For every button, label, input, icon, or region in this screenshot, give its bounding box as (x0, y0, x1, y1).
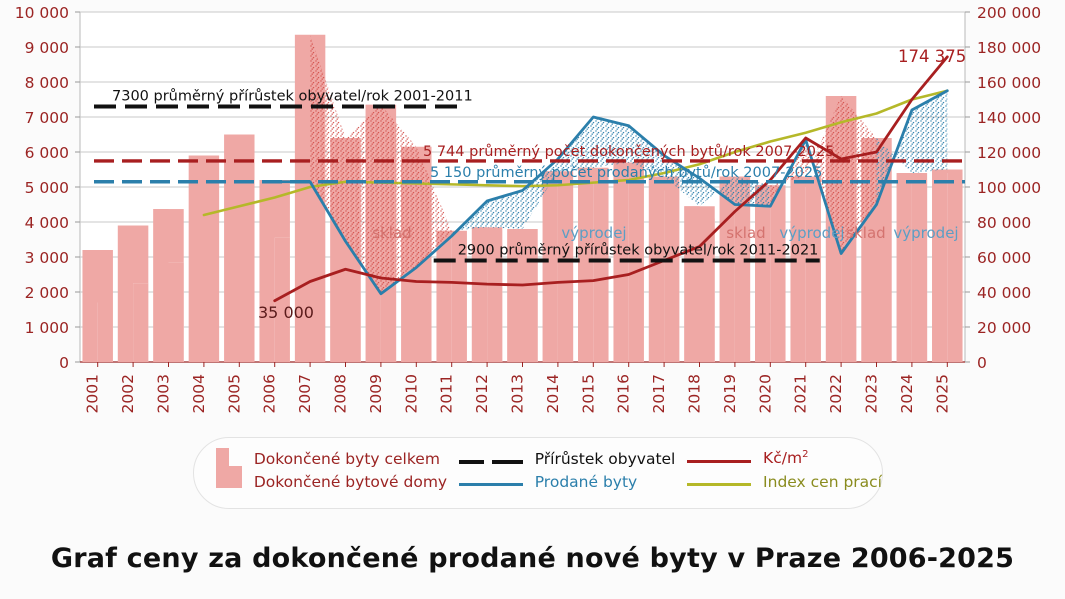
x-axis-label-2004: 2004 (190, 374, 208, 413)
x-axis-label-2022: 2022 (827, 374, 845, 413)
annotation-price-start: 35 000 (258, 303, 314, 322)
x-axis-label-2001: 2001 (84, 374, 102, 413)
bar-buildings (664, 191, 679, 363)
legend-bar-swatch (216, 447, 242, 493)
x-axis-label-2002: 2002 (119, 374, 137, 413)
bar-buildings (169, 262, 184, 362)
x-axis-label-2020: 2020 (756, 374, 774, 413)
bar-total (755, 185, 770, 362)
x-axis-label-2019: 2019 (721, 374, 739, 413)
y-axis-left-tick: 3 000 (25, 249, 69, 267)
legend-label-population: Přírůstek obyvatel (535, 447, 676, 470)
x-axis-label-2010: 2010 (402, 374, 420, 413)
x-axis-label-2015: 2015 (579, 374, 597, 413)
y-axis-left-tick: 9 000 (25, 39, 69, 57)
chart-canvas: 001 00020 0002 00040 0003 00060 0004 000… (0, 0, 1065, 430)
bar-buildings (98, 303, 113, 363)
bar-total (932, 170, 947, 363)
x-axis-label-2013: 2013 (509, 374, 527, 413)
y-axis-right-tick: 140 000 (977, 109, 1041, 127)
y-axis-left-tick: 8 000 (25, 74, 69, 92)
y-axis-left-tick: 10 000 (15, 4, 69, 22)
x-axis-label-2006: 2006 (261, 374, 279, 413)
region-label-vyprodej: výprodej (779, 224, 844, 242)
legend-label-index: Index cen prací (763, 470, 882, 493)
bar-buildings (806, 187, 821, 362)
region-label-sklad: sklad (846, 224, 885, 242)
bar-total (224, 135, 254, 363)
bar-buildings (947, 173, 962, 362)
region-label-vyprodej: výprodej (561, 224, 626, 242)
x-axis-label-2016: 2016 (615, 374, 633, 413)
y-axis-left-tick: 1 000 (25, 319, 69, 337)
legend-label-completed-buildings: Dokončené bytové domy (254, 470, 447, 493)
annotation-sold-avg: 5 150 průměrný počet prodaných bytů/rok … (430, 165, 822, 181)
annotation-population-2011-2021: 2900 průměrný přírůstek obyvatel/rok 201… (458, 243, 819, 259)
y-axis-left-tick: 4 000 (25, 214, 69, 232)
y-axis-right-tick: 100 000 (977, 179, 1041, 197)
bar-buildings (133, 283, 148, 362)
x-axis-label-2018: 2018 (686, 374, 704, 413)
y-axis-right-tick: 160 000 (977, 74, 1041, 92)
region-label-sklad: sklad (726, 224, 765, 242)
x-axis-label-2011: 2011 (438, 374, 456, 413)
y-axis-right-tick: 60 000 (977, 249, 1031, 267)
bar-total (189, 156, 219, 363)
legend-label-sold: Prodané byty (535, 470, 676, 493)
y-axis-left-tick: 2 000 (25, 284, 69, 302)
y-axis-right-tick: 20 000 (977, 319, 1031, 337)
x-axis-label-2023: 2023 (863, 374, 881, 413)
x-axis-label-2005: 2005 (225, 374, 243, 413)
bar-buildings (523, 248, 538, 362)
bar-buildings (912, 180, 927, 362)
bar-buildings (593, 184, 608, 363)
bar-buildings (770, 198, 785, 363)
x-axis-label-2003: 2003 (155, 374, 173, 413)
y-axis-left-tick: 5 000 (25, 179, 69, 197)
y-axis-right-tick: 200 000 (977, 4, 1041, 22)
bar-total (578, 168, 593, 362)
annotation-population-2001-2011: 7300 průměrný přírůstek obyvatel/rok 200… (112, 89, 473, 105)
bar-total (436, 231, 451, 362)
y-axis-left-tick: 7 000 (25, 109, 69, 127)
bar-buildings (735, 189, 750, 362)
bar-total (684, 206, 699, 362)
bar-total (897, 173, 912, 362)
y-axis-right-tick: 180 000 (977, 39, 1041, 57)
legend-price-text: Kč/m (763, 450, 802, 468)
legend-swatch-price (687, 447, 751, 470)
chart-frame: 001 00020 0002 00040 0003 00060 0004 000… (0, 0, 1065, 599)
x-axis-label-2025: 2025 (933, 374, 951, 413)
x-axis-label-2009: 2009 (367, 374, 385, 413)
main-chart-svg: 001 00020 0002 00040 0003 00060 0004 000… (0, 0, 1065, 430)
y-axis-left-tick: 6 000 (25, 144, 69, 162)
x-axis-label-2012: 2012 (473, 374, 491, 413)
y-axis-right-tick: 120 000 (977, 144, 1041, 162)
x-axis-label-2017: 2017 (650, 374, 668, 413)
legend-label-price: Kč/m2 (763, 447, 882, 470)
bar-buildings (558, 184, 573, 363)
annotation-price-end: 174 375 (898, 47, 966, 66)
y-axis-right-tick: 40 000 (977, 284, 1031, 302)
bar-buildings (629, 173, 644, 362)
chart-legend: Dokončené byty celkem Přírůstek obyvatel… (193, 437, 883, 509)
x-axis-label-2014: 2014 (544, 374, 562, 413)
bar-total (259, 180, 274, 362)
bar-total (649, 177, 664, 363)
bar-total (543, 171, 558, 362)
bar-total (118, 226, 133, 363)
legend-swatch-index (687, 470, 751, 493)
legend-swatch-sold (459, 470, 523, 493)
annotation-completed-avg: 5 744 průměrný počet dokončených bytů/ro… (423, 144, 834, 160)
page-title: Graf ceny za dokončené prodané nové byty… (0, 543, 1065, 574)
region-label-vyprodej: výprodej (893, 224, 958, 242)
x-axis-label-2008: 2008 (332, 374, 350, 413)
y-axis-right-tick: 0 (977, 354, 987, 372)
legend-swatch-population (459, 447, 523, 470)
x-axis-label-2007: 2007 (296, 374, 314, 413)
bar-total (82, 250, 97, 362)
bar-total (790, 177, 805, 363)
x-axis-label-2024: 2024 (898, 374, 916, 413)
bar-total (153, 209, 168, 362)
y-axis-right-tick: 80 000 (977, 214, 1031, 232)
region-label-sklad: sklad (372, 224, 411, 242)
x-axis-label-2021: 2021 (792, 374, 810, 413)
legend-label-completed-total: Dokončené byty celkem (254, 447, 447, 470)
y-axis-left-tick: 0 (59, 354, 69, 372)
